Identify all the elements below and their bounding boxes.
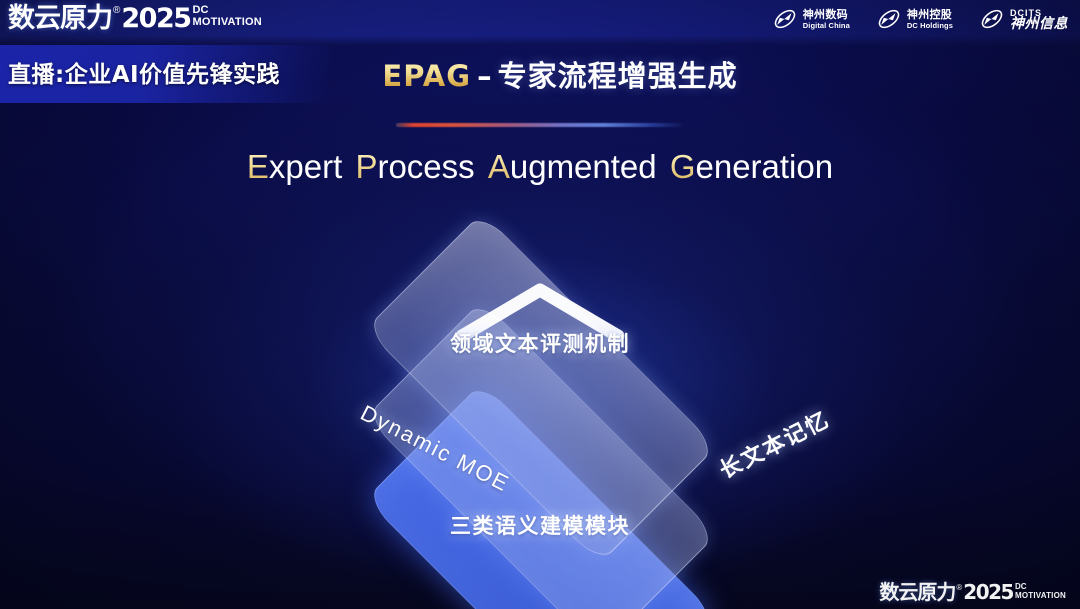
partner-logo-dc-holdings: 神州控股 DC Holdings (876, 6, 953, 32)
title-acronym: EPAG (382, 59, 471, 93)
partner-logo-digital-china: 神州数码 Digital China (772, 6, 850, 32)
subtitle-rest-generation: eneration (695, 148, 833, 185)
diagram-layer-bottom-label: 三类语义建模模块 (280, 510, 800, 540)
brand-logo: 数云原力 ® 2025 DC MOTIVATION (8, 4, 262, 34)
brand-year: 2025 (121, 4, 190, 34)
page-title: EPAG–专家流程增强生成 (330, 53, 790, 95)
partner-logo-dcits: DCITS 神州信息 (979, 6, 1068, 32)
footer-brand-motivation-label: MOTIVATION (1015, 591, 1066, 600)
gradient-divider (396, 123, 684, 127)
partner-label: 神州数码 Digital China (803, 9, 850, 30)
layered-diagram: 领域文本评测机制 Dynamic MOE 长文本记忆 三类语义建模模块 (280, 220, 800, 570)
live-banner-text: 直播:企业AI价值先锋实践 (8, 55, 280, 89)
partner-name-cn: 神州控股 (907, 9, 953, 21)
brand-dc-motivation: DC MOTIVATION (193, 5, 262, 28)
subtitle-cap-a: A (488, 148, 510, 185)
subtitle-cap-p: P (355, 148, 377, 185)
subtitle-rest-expert: xpert (269, 148, 342, 185)
subtitle: Expert Process Augmented Generation (0, 148, 1080, 186)
partner-name-en: DC Holdings (907, 21, 953, 30)
swoosh-logo-icon (772, 6, 798, 32)
footer-brand-name-cn: 数云原力 (879, 581, 955, 603)
subtitle-rest-augmented: ugmented (510, 148, 657, 185)
brand-dc-label: DC (193, 5, 262, 16)
live-banner: 直播:企业AI价值先锋实践 (0, 45, 330, 103)
diagram-layer-middle-label-right: 长文本记忆 (713, 402, 834, 485)
brand-registered-mark: ® (113, 6, 120, 16)
footer-brand-year: 2025 (963, 581, 1013, 603)
footer-brand-dc-label: DC (1015, 582, 1066, 591)
subtitle-word-augmented: Augmented (488, 148, 657, 185)
partner-label: DCITS 神州信息 (1010, 9, 1068, 30)
partner-logo-group: 神州数码 Digital China 神州控股 DC Holdings DCIT… (772, 6, 1068, 32)
footer-brand-registered-mark: ® (956, 583, 962, 593)
brand-name-cn: 数云原力 (8, 4, 112, 34)
subtitle-word-process: Process (355, 148, 474, 185)
partner-name-cn: 神州信息 (1010, 18, 1068, 30)
subtitle-rest-process: rocess (377, 148, 474, 185)
diagram-layer-top-label: 领域文本评测机制 (280, 328, 800, 358)
partner-label: 神州控股 DC Holdings (907, 9, 953, 30)
partner-name-cn: 神州数码 (803, 9, 850, 21)
title-chinese: 专家流程增强生成 (498, 59, 738, 93)
swoosh-logo-icon (876, 6, 902, 32)
swoosh-logo-icon (979, 6, 1005, 32)
brand-motivation-label: MOTIVATION (193, 16, 262, 28)
footer-brand-dc-motivation: DC MOTIVATION (1015, 582, 1066, 600)
footer-brand-logo: 数云原力 ® 2025 DC MOTIVATION (879, 581, 1066, 603)
subtitle-cap-g: G (670, 148, 696, 185)
subtitle-word-expert: Expert (247, 148, 342, 185)
subtitle-cap-e: E (247, 148, 269, 185)
partner-name-en: Digital China (803, 21, 850, 30)
title-dash: – (477, 59, 492, 93)
subtitle-word-generation: Generation (670, 148, 833, 185)
slide-root: 数云原力 ® 2025 DC MOTIVATION 神州数码 Digital C… (0, 0, 1080, 609)
